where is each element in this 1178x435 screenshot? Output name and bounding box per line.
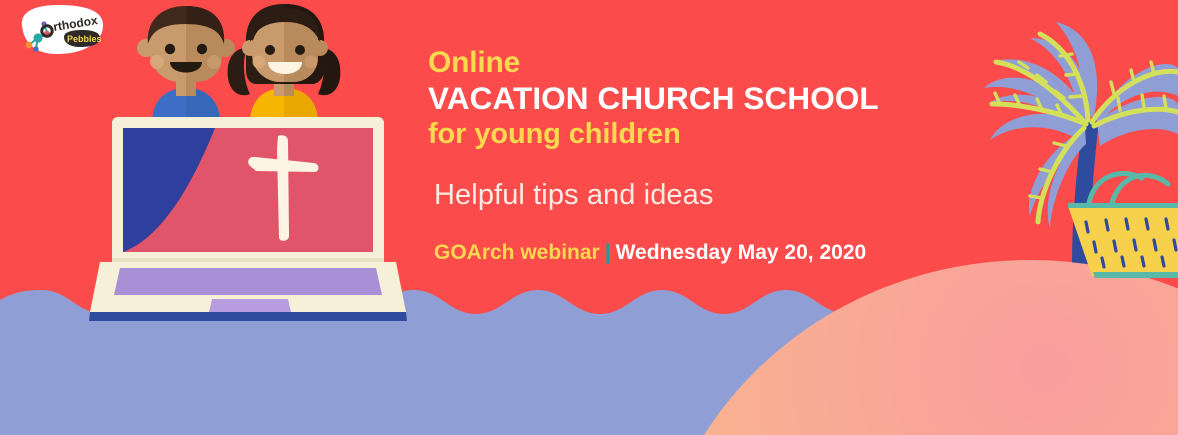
banner-text-block: Online VACATION CHURCH SCHOOL for young … <box>428 46 988 266</box>
eyebrow-online: Online <box>428 46 988 80</box>
page-title: VACATION CHURCH SCHOOL <box>428 80 988 116</box>
event-separator: | <box>600 241 616 264</box>
audience-line: for young children <box>428 116 988 152</box>
event-host: GOArch webinar <box>434 241 600 264</box>
laptop-illustration <box>89 117 407 321</box>
subtitle: Helpful tips and ideas <box>434 178 988 212</box>
event-details: GOArch webinar|Wednesday May 20, 2020 <box>434 240 988 266</box>
svg-text:Pebbles: Pebbles <box>67 34 102 44</box>
event-banner: rthodox Pebbles Online VACATION CHURCH S… <box>0 0 1178 435</box>
logo-word-pebbles: Pebbles <box>64 30 102 47</box>
event-date: Wednesday May 20, 2020 <box>616 241 867 264</box>
orthodox-pebbles-logo[interactable]: rthodox Pebbles <box>14 4 106 56</box>
